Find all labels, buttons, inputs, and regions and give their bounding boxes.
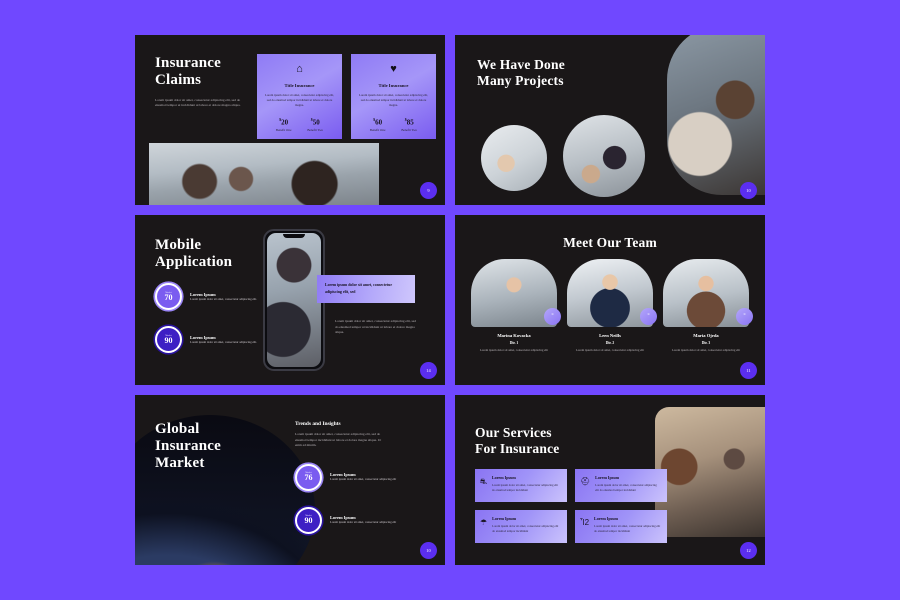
service-heading: Lorem Ipsum [492,475,561,480]
page-number-badge: 11 [740,362,757,379]
price-amount: $85 [401,117,417,126]
slide2-photo-whiteboard [481,125,547,191]
pricing-card-list: ⌂ Title Insurance Lorem ipsum dolor sit … [257,54,436,139]
stat-list: Market 70 Lorem Ipsum Lorem ipsum dolor … [155,283,268,369]
price-item: $60 Benefit One [370,117,386,132]
page-title: Insurance Claims [155,55,250,89]
price-item: $85 Benefit Two [401,117,417,132]
service-heading: Lorem Ipsum [594,516,661,521]
title-line-1: Insurance [155,55,221,71]
stat-text: Lorem Ipsum Lorem ipsum dolor sit amet, … [330,515,408,525]
price-item: $20 Benefit One [276,117,292,132]
progress-ring: Market 70 [155,283,182,310]
slide-our-services[interactable]: Our Services For Insurance ⛐ Lorem Ipsum… [455,395,765,565]
house-icon: ⌂ [296,64,303,75]
amount-value: 85 [407,118,414,126]
slide-many-projects[interactable]: We Have Done Many Projects 10 [455,35,765,205]
page-title: Meet Our Team [455,235,765,251]
service-card[interactable]: Ἶ2 Lorem Ipsum Lorem ipsum dolor sit ame… [575,510,667,543]
phone-screen-photo [267,233,321,367]
card-description: Lorem ipsum dolor sit amet, consectetur … [264,93,335,108]
slide-insurance-claims[interactable]: Insurance Claims Lorem ipsum dolor sit a… [135,35,445,205]
phone-mockup [263,229,325,371]
slide-meet-our-team[interactable]: Meet Our Team ” Marina Kovacka Dir. 1 Lo… [455,215,765,385]
slide-global-insurance-market[interactable]: Global Insurance Market Trends and Insig… [135,395,445,565]
member-photo: ” [663,259,749,327]
stat-text: Lorem Ipsum Lorem ipsum dolor sit amet, … [190,292,268,302]
team-member[interactable]: ” Maria Ojeda Dir. 3 Lorem ipsum dolor s… [663,259,749,353]
service-description: Lorem ipsum dolor sit amet, consectetur … [594,524,661,534]
slide3-paragraph: Lorem ipsum dolor sit amet, consectetur … [335,319,417,336]
stat-text: Lorem Ipsum Lorem ipsum dolor sit amet, … [190,335,268,345]
service-description: Lorem ipsum dolor sit amet, consectetur … [492,524,561,534]
quote-icon: ” [640,308,657,325]
family-health-icon: ⛑ [580,478,590,486]
page-title: Our Services For Insurance [475,425,559,456]
service-card-list: ⛐ Lorem Ipsum Lorem ipsum dolor sit amet… [475,469,667,543]
price-amount: $50 [307,117,323,126]
progress-ring: Market 76 [295,464,322,491]
stat-text: Lorem Ipsum Lorem ipsum dolor sit amet, … [330,472,408,482]
member-description: Lorem ipsum dolor sit amet, consectetur … [567,348,653,353]
page-number-badge: 14 [420,362,437,379]
car-insurance-icon: ⛐ [480,478,487,486]
title-line-2: Application [155,254,232,270]
member-role: Dir. 2 [567,341,653,345]
member-role: Dir. 1 [471,341,557,345]
stat-description: Lorem ipsum dolor sit amet, consectetur … [190,297,268,302]
service-heading: Lorem Ipsum [492,516,561,521]
title-line-1: We Have Done [477,57,565,72]
member-name: Maria Ojeda [663,333,749,338]
member-description: Lorem ipsum dolor sit amet, consectetur … [471,348,557,353]
slide1-text-block: Insurance Claims Lorem ipsum dolor sit a… [155,55,250,109]
benefit-label: Benefit One [370,128,386,132]
service-card[interactable]: ☂ Lorem Ipsum Lorem ipsum dolor sit amet… [475,510,567,543]
progress-ring: Market 90 [295,507,322,534]
slide-mobile-application[interactable]: Mobile Application Market 70 Lorem Ipsum… [135,215,445,385]
card-description: Lorem ipsum dolor sit amet, consectetur … [358,93,429,108]
title-line-2: Many Projects [477,73,564,88]
slide-deck: Insurance Claims Lorem ipsum dolor sit a… [0,0,900,600]
stat-item: Market 70 Lorem Ipsum Lorem ipsum dolor … [155,283,268,310]
service-text: Lorem Ipsum Lorem ipsum dolor sit amet, … [492,516,561,534]
member-name: Leen Neills [567,333,653,338]
service-description: Lorem ipsum dolor sit amet, consectetur … [595,483,661,493]
stat-description: Lorem ipsum dolor sit amet, consectetur … [330,477,408,482]
phone-notch [283,234,305,238]
member-description: Lorem ipsum dolor sit amet, consectetur … [663,348,749,353]
slide6-photo-meeting [655,407,765,537]
ring-value: 76 [305,474,313,482]
benefit-label: Benefit Two [401,128,417,132]
stat-item: Market 90 Lorem Ipsum Lorem ipsum dolor … [155,326,268,353]
team-member-list: ” Marina Kovacka Dir. 1 Lorem ipsum dolo… [471,259,749,353]
title-line-1: Global [155,421,200,437]
price-amount: $20 [276,117,292,126]
service-card[interactable]: ⛐ Lorem Ipsum Lorem ipsum dolor sit amet… [475,469,567,502]
stat-list: Market 76 Lorem Ipsum Lorem ipsum dolor … [295,464,425,534]
member-photo: ” [471,259,557,327]
service-text: Lorem Ipsum Lorem ipsum dolor sit amet, … [594,516,661,534]
quote-icon: ” [736,308,753,325]
page-number-badge: 12 [740,542,757,559]
page-title: Global Insurance Market [155,421,240,471]
title-line-1: Our Services [475,425,552,440]
benefit-label: Benefit One [276,128,292,132]
member-photo: ” [567,259,653,327]
title-line-1: Mobile [155,237,201,253]
slide2-photo-large [667,35,765,195]
slide1-photo-meeting [149,143,379,205]
title-line-2: For Insurance [475,441,559,456]
member-role: Dir. 3 [663,341,749,345]
pricing-card[interactable]: ⌂ Title Insurance Lorem ipsum dolor sit … [257,54,342,139]
page-title: Mobile Application [155,237,255,271]
service-text: Lorem Ipsum Lorem ipsum dolor sit amet, … [595,475,661,493]
callout-box: Lorem ipsum dolor sit amet, consectetur … [317,275,415,303]
section-body: Lorem ipsum dolor sit amet, consectetur … [295,432,387,449]
pricing-card[interactable]: ♥ Title Insurance Lorem ipsum dolor sit … [351,54,436,139]
price-row: $60 Benefit One $85 Benefit Two [370,117,417,132]
amount-value: 50 [313,118,320,126]
section-heading: Trends and Insights [295,421,425,427]
ring-value: 70 [165,294,173,302]
heartbeat-icon: ♥ [390,64,397,75]
title-line-3: Market [155,455,205,471]
service-card[interactable]: ⛑ Lorem Ipsum Lorem ipsum dolor sit amet… [575,469,667,502]
stat-description: Lorem ipsum dolor sit amet, consectetur … [330,520,408,525]
stat-description: Lorem ipsum dolor sit amet, consectetur … [190,340,268,345]
slide5-content: Trends and Insights Lorem ipsum dolor si… [295,421,425,550]
card-title: Title Insurance [285,83,315,88]
page-number-badge: 10 [740,182,757,199]
benefit-label: Benefit Two [307,128,323,132]
page-title: We Have Done Many Projects [477,57,565,88]
service-heading: Lorem Ipsum [595,475,661,480]
price-item: $50 Benefit Two [307,117,323,132]
building-icon: Ἶ2 [580,519,589,527]
title-line-2: Claims [155,72,201,88]
price-row: $20 Benefit One $50 Benefit Two [276,117,323,132]
amount-value: 20 [281,118,288,126]
stat-item: Market 90 Lorem Ipsum Lorem ipsum dolor … [295,507,425,534]
amount-value: 60 [375,118,382,126]
title-line-2: Insurance [155,438,221,454]
page-number-badge: 10 [420,542,437,559]
team-member[interactable]: ” Marina Kovacka Dir. 1 Lorem ipsum dolo… [471,259,557,353]
team-member[interactable]: ” Leen Neills Dir. 2 Lorem ipsum dolor s… [567,259,653,353]
quote-icon: ” [544,308,561,325]
service-text: Lorem Ipsum Lorem ipsum dolor sit amet, … [492,475,561,493]
umbrella-icon: ☂ [480,519,487,527]
stat-item: Market 76 Lorem Ipsum Lorem ipsum dolor … [295,464,425,491]
progress-ring: Market 90 [155,326,182,353]
ring-value: 90 [165,337,173,345]
slide1-body-text: Lorem ipsum dolor sit amet, consectetur … [155,98,250,109]
card-title: Title Insurance [379,83,409,88]
page-number-badge: 9 [420,182,437,199]
price-amount: $60 [370,117,386,126]
member-name: Marina Kovacka [471,333,557,338]
service-description: Lorem ipsum dolor sit amet, consectetur … [492,483,561,493]
ring-value: 90 [305,517,313,525]
slide2-photo-presentation [563,115,645,197]
